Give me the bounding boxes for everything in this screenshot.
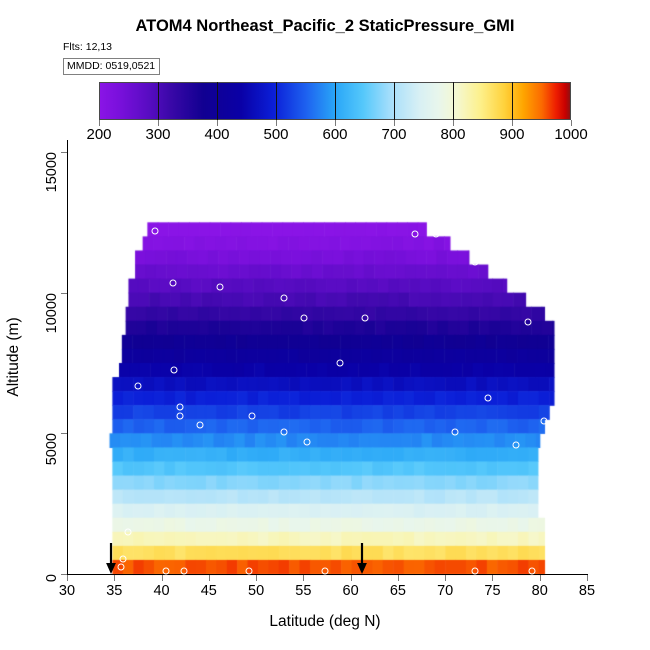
- heatmap-raster: [0, 0, 650, 650]
- x-axis-tick: [303, 575, 304, 581]
- x-axis-tick: [162, 575, 163, 581]
- x-axis-tick: [351, 575, 352, 581]
- y-axis-tick: [61, 293, 67, 294]
- y-axis-line: [67, 140, 68, 575]
- y-axis-tick: [61, 574, 67, 575]
- x-axis-tick-label: 55: [295, 583, 311, 599]
- x-axis-line: [67, 574, 588, 575]
- colorbar-tick-label: 200: [86, 126, 111, 143]
- x-axis-tick: [114, 575, 115, 581]
- colorbar-tick-label: 400: [204, 126, 229, 143]
- x-axis-tick: [540, 575, 541, 581]
- y-axis-title: Altitude (m): [5, 317, 23, 396]
- x-axis-tick-label: 50: [248, 583, 264, 599]
- x-axis-tick-label: 65: [390, 583, 406, 599]
- x-axis-tick-label: 35: [106, 583, 122, 599]
- x-axis-tick: [209, 575, 210, 581]
- x-axis-tick: [256, 575, 257, 581]
- colorbar-tick-label: 500: [263, 126, 288, 143]
- colorbar-tick-label: 900: [499, 126, 524, 143]
- x-axis-tick: [67, 575, 68, 581]
- x-axis-tick-label: 85: [579, 583, 595, 599]
- colorbar-tick-label: 300: [145, 126, 170, 143]
- x-axis-tick-label: 70: [437, 583, 453, 599]
- colorbar-tick-label: 800: [440, 126, 465, 143]
- x-axis-tick: [445, 575, 446, 581]
- x-axis-tick-label: 60: [343, 583, 359, 599]
- x-axis-tick-label: 30: [59, 583, 75, 599]
- y-axis-tick: [61, 152, 67, 153]
- x-axis-tick: [492, 575, 493, 581]
- y-axis-tick-label: 0: [44, 574, 60, 582]
- x-axis-tick-label: 45: [201, 583, 217, 599]
- y-axis-tick-label: 10000: [44, 293, 60, 333]
- x-axis-tick: [587, 575, 588, 581]
- chart-root: ATOM4 Northeast_Pacific_2 StaticPressure…: [0, 0, 650, 650]
- y-axis-tick-label: 15000: [44, 152, 60, 192]
- y-axis-tick: [61, 433, 67, 434]
- colorbar-tick-label: 700: [381, 126, 406, 143]
- x-axis-tick: [398, 575, 399, 581]
- x-axis-tick-label: 80: [532, 583, 548, 599]
- colorbar-tick-label: 600: [322, 126, 347, 143]
- x-axis-tick-label: 40: [153, 583, 169, 599]
- x-axis-title: Latitude (deg N): [0, 613, 650, 631]
- colorbar-tick-label: 1000: [554, 126, 587, 143]
- y-axis-tick-label: 5000: [44, 433, 60, 465]
- x-axis-tick-label: 75: [484, 583, 500, 599]
